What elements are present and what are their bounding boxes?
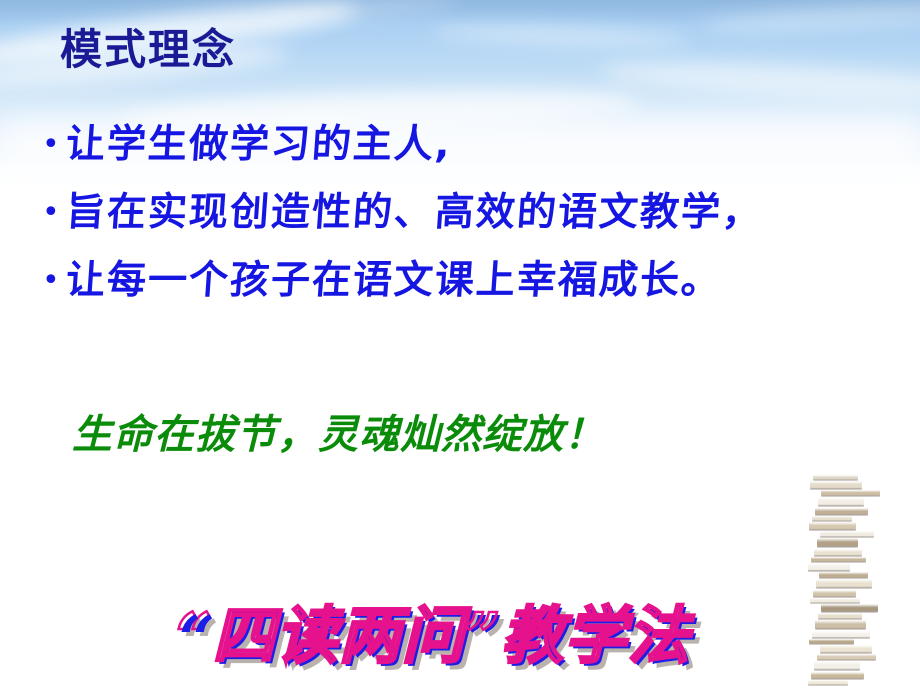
accent-line: 生命在拔节，灵魂灿然绽放！ [72,402,605,460]
book [812,631,870,638]
book [820,531,874,537]
book [814,549,862,556]
list-item: • 旨在实现创造性的、高效的语文教学， [32,186,892,240]
list-item: • 让学生做学习的主人, [32,118,892,172]
book [812,516,852,521]
bullet-marker-icon: • [32,254,66,308]
book [811,672,864,679]
wordart-open-quote: “ [179,599,215,679]
book [811,557,866,562]
book [808,563,850,571]
book [813,590,856,597]
book [818,497,864,506]
book [818,613,862,619]
slide-canvas: 模式理念 • 让学生做学习的主人, • 旨在实现创造性的、高效的语文教学， • … [0,0,920,690]
bullet-text: 旨在实现创造性的、高效的语文教学， [64,186,765,240]
book [821,490,880,496]
sky-background [0,0,920,690]
book [815,620,866,629]
footer-wordart-title: “四读两问”教学法 “四读两问”教学法 “四读两问”教学法 “ [176,596,876,690]
book [810,598,860,603]
book [821,604,878,612]
book-stack-image [806,444,868,686]
book [815,508,868,515]
bullet-list: • 让学生做学习的主人, • 旨在实现创造性的、高效的语文教学， • 让每一个孩… [32,118,892,322]
bullet-text: 让每一个孩子在语文课上幸福成长。 [64,254,724,308]
book [816,579,872,588]
book [810,481,862,489]
book [819,572,868,578]
book [814,661,860,670]
bullet-marker-icon: • [32,118,66,172]
book [809,639,854,644]
book [809,522,856,530]
bullet-text: 让学生做学习的主人, [64,118,454,172]
book [817,654,876,660]
slide-heading: 模式理念 [60,26,236,73]
book [817,538,858,547]
wordart-pink-outline-layer: “四读两问”教学法 [176,596,690,676]
book [808,680,848,685]
book [820,645,872,653]
list-item: • 让每一个孩子在语文课上幸福成长。 [32,254,892,308]
sky-top-wash [0,0,920,26]
bullet-marker-icon: • [32,186,66,240]
book [813,475,858,480]
